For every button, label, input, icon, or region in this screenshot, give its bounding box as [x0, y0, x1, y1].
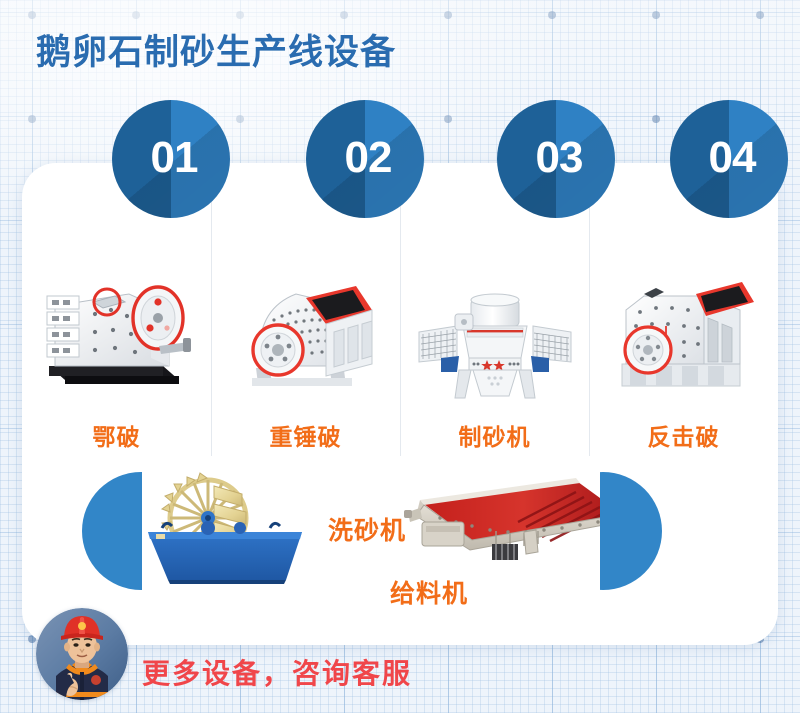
- step-badge-04: 04: [670, 100, 788, 218]
- badge-number: 02: [306, 100, 424, 218]
- badge-number: 06: [600, 472, 662, 590]
- promo-banner: 鹅卵石制砂生产线设备 01 02 03 04: [0, 0, 800, 713]
- step-badge-06: 06: [600, 472, 662, 590]
- step-badge-03: 03: [497, 100, 615, 218]
- badge-number: 03: [497, 100, 615, 218]
- vibrating-feeder-icon: [400, 470, 630, 580]
- product-label: 鄂破: [93, 418, 141, 452]
- product-label: 重锤破: [270, 418, 342, 452]
- cta-text[interactable]: 更多设备，咨询客服: [142, 652, 412, 692]
- sand-making-machine-icon: [411, 258, 579, 408]
- avatar[interactable]: [36, 608, 128, 700]
- step-badge-02: 02: [306, 100, 424, 218]
- badge-number: 01: [112, 100, 230, 218]
- product-label: 洗砂机: [328, 511, 406, 547]
- sand-washer-icon: [130, 470, 310, 588]
- product-card-feeder[interactable]: 给料机: [400, 470, 630, 610]
- step-badge-01: 01: [112, 100, 230, 218]
- step-badge-05: 05: [82, 472, 142, 590]
- product-label: 给料机: [390, 574, 468, 610]
- product-card-jaw-crusher[interactable]: 鄂破: [22, 178, 211, 456]
- product-card-hammer-crusher[interactable]: 重锤破: [211, 178, 400, 456]
- jaw-crusher-icon: [33, 258, 201, 408]
- hammer-crusher-icon: [222, 258, 390, 408]
- product-card-sand-washer[interactable]: 洗砂机: [130, 470, 406, 588]
- product-label: 制砂机: [459, 418, 531, 452]
- badge-number: 04: [670, 100, 788, 218]
- page-title: 鹅卵石制砂生产线设备: [36, 24, 396, 75]
- impact-crusher-icon: [600, 258, 768, 408]
- product-card-impact-crusher[interactable]: 反击破: [589, 178, 778, 456]
- product-card-sand-maker[interactable]: 制砂机: [400, 178, 589, 456]
- product-columns: 鄂破: [22, 178, 778, 456]
- product-label: 反击破: [648, 418, 720, 452]
- badge-number: 05: [82, 472, 142, 590]
